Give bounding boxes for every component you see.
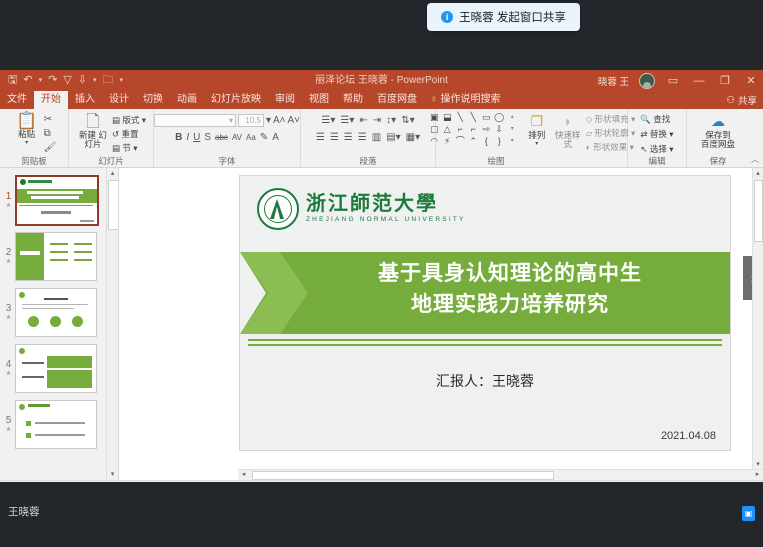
slide-title-line2: 地理实践力培养研究	[300, 289, 720, 320]
tab-slideshow[interactable]: 幻灯片放映	[204, 91, 268, 109]
paste-dropdown-icon[interactable]: ▾	[25, 139, 28, 146]
tab-transitions[interactable]: 切换	[136, 91, 170, 109]
university-seal-icon	[257, 188, 299, 230]
shape-lightning-icon[interactable]: ⚡	[444, 137, 450, 146]
thumbnail-number: 2	[3, 247, 15, 258]
select-button[interactable]: ↖ 选择 ▾	[640, 143, 673, 155]
reset-button[interactable]: ↺ 重置	[112, 128, 146, 140]
scroll-up-icon[interactable]: ▴	[107, 168, 118, 179]
numbering-icon[interactable]: ☰▾	[340, 115, 354, 126]
tab-help[interactable]: 帮助	[336, 91, 370, 109]
group-slides: 🗋 新建 幻灯片 ▤ 版式 ▾ ↺ 重置 ▤ 节 ▾ 幻灯片	[69, 109, 154, 167]
paste-label: 粘贴	[18, 130, 35, 139]
tell-me-label: 操作说明搜索	[441, 93, 501, 106]
text-shadow-icon[interactable]: S	[204, 132, 211, 143]
shape-textbox-icon[interactable]: ▣	[430, 113, 439, 122]
shapes-scroll-up-icon[interactable]: ▴	[511, 113, 514, 122]
thumbnail-number: 5	[3, 415, 15, 426]
animation-star-icon: ★	[6, 202, 11, 209]
align-left-icon[interactable]: ☰	[316, 132, 325, 143]
group-drawing: ▣ ⬓ ╲ ╲ ▭ ◯ ▴ ▢ △ ⌐ ⌐ ⇨ ⇩ ▾ ◠	[436, 109, 628, 167]
info-icon: i	[441, 11, 453, 23]
replace-button[interactable]: ⇄ 替换 ▾	[640, 128, 673, 140]
shapes-more-icon[interactable]: ▾	[511, 137, 514, 146]
group-label-paragraph: 段落	[301, 155, 435, 167]
share-person-icon: ⚇	[726, 95, 735, 106]
section-button[interactable]: ▤ 节 ▾	[112, 142, 146, 154]
shape-brace-right-icon[interactable]: }	[498, 137, 501, 146]
divider-line-2	[248, 344, 722, 346]
group-label-editing: 编辑	[628, 155, 686, 167]
character-spacing-icon[interactable]: AV	[232, 133, 242, 142]
thumbnail-slide-2[interactable]: 2 ★	[0, 228, 118, 284]
slide-vertical-scrollbar[interactable]: ▴ ▾	[752, 168, 763, 470]
scroll-up-icon[interactable]: ▴	[753, 168, 763, 179]
arrange-dropdown-icon[interactable]: ▾	[535, 140, 538, 147]
shape-line-icon[interactable]: ╲	[458, 113, 463, 122]
tab-insert[interactable]: 插入	[68, 91, 102, 109]
font-size-input[interactable]: 10.5	[238, 114, 264, 127]
text-direction-icon[interactable]: ⇅▾	[401, 115, 414, 126]
thumbnail-scrollbar[interactable]: ▴ ▾	[106, 168, 118, 480]
slide-stage: 浙江師范大學 ZHEJIANG NORMAL UNIVERSITY 基于具身认知…	[119, 168, 763, 480]
animation-star-icon: ★	[6, 314, 11, 321]
university-logo: 浙江師范大學 ZHEJIANG NORMAL UNIVERSITY	[257, 188, 466, 230]
shape-arrow-right-icon[interactable]: ⇨	[482, 125, 490, 134]
group-save: ☁ 保存到 百度网盘 保存	[687, 109, 749, 167]
slide-thumbnail-pane[interactable]: 1 ★	[0, 168, 119, 480]
meeting-top-strip: i 王晓蓉 发起窗口共享	[0, 0, 763, 70]
university-name-en: ZHEJIANG NORMAL UNIVERSITY	[306, 215, 466, 224]
arrange-button[interactable]: ❐ 排列 ▾	[524, 111, 550, 147]
italic-icon[interactable]: I	[186, 132, 189, 143]
save-to-baidu-button[interactable]: ☁ 保存到 百度网盘	[693, 113, 743, 149]
thumbnail-preview	[15, 175, 99, 226]
share-notification-text: 王晓蓉 发起窗口共享	[459, 9, 566, 25]
share-button[interactable]: ⚇ 共享	[726, 93, 757, 107]
baidu-netdisk-icon: ☁	[711, 113, 725, 130]
group-label-slides: 幻灯片	[69, 155, 153, 167]
cut-icon[interactable]: ✂	[44, 114, 57, 125]
group-clipboard: 📋 粘贴 ▾ ✂ ⧉ 🖌 剪贴板	[0, 109, 69, 167]
scroll-right-icon[interactable]: ▸	[752, 470, 763, 479]
text-highlight-icon[interactable]: ✎	[260, 132, 268, 143]
powerpoint-window: 🖫 ↶ ▾ ↷ ▽ ⇩ ▾ 🗀 ▾ 丽泽论坛 王晓蓉 - PowerPoint …	[0, 70, 763, 482]
shapes-scroll-down-icon[interactable]: ▾	[511, 125, 514, 134]
change-case-icon[interactable]: Aa	[246, 133, 256, 142]
save-to-baidu-label: 保存到 百度网盘	[701, 131, 735, 149]
tab-baidu-netdisk[interactable]: 百度网盘	[370, 91, 424, 109]
group-label-save: 保存	[687, 155, 749, 167]
ribbon-home: 📋 粘贴 ▾ ✂ ⧉ 🖌 剪贴板 🗋 新建	[0, 109, 763, 168]
close-button[interactable]: ✕	[743, 74, 759, 87]
thumbnail-number: 4	[3, 359, 15, 370]
share-notification-banner: i 王晓蓉 发起窗口共享	[427, 3, 580, 31]
animation-star-icon: ★	[6, 370, 11, 377]
slide-date: 2021.04.08	[661, 430, 716, 442]
shapes-gallery[interactable]: ▣ ⬓ ╲ ╲ ▭ ◯ ▴ ▢ △ ⌐ ⌐ ⇨ ⇩ ▾ ◠	[428, 111, 519, 147]
copy-icon[interactable]: ⧉	[44, 128, 57, 139]
font-name-input[interactable]: ▾	[154, 114, 236, 127]
shape-frame-icon[interactable]: ⬓	[443, 113, 452, 122]
tab-home[interactable]: 开始	[34, 91, 68, 109]
thumbnail-number: 1	[3, 191, 15, 202]
restore-button[interactable]: ❐	[717, 74, 733, 87]
shape-brace-left-icon[interactable]: {	[485, 137, 488, 146]
shape-arrow-down-icon[interactable]: ⇩	[495, 125, 503, 134]
group-paragraph: ☰▾ ☰▾ ⇤ ⇥ ↕▾ ⇅▾ ☰ ☰ ☰ ☰ ▥ ▤▾ ▦▾ 段落	[301, 109, 436, 167]
avatar[interactable]	[639, 73, 655, 89]
presenter-text[interactable]: 汇报人：王晓蓉	[240, 371, 730, 391]
shape-rounded-rect-icon[interactable]: ▢	[430, 125, 439, 134]
underline-icon[interactable]: U	[193, 132, 200, 143]
account-name[interactable]: 晓蓉 王	[598, 74, 629, 88]
workspace: 1 ★	[0, 168, 763, 480]
bold-icon[interactable]: B	[175, 132, 182, 143]
decrease-font-size-icon[interactable]: A˅	[288, 115, 301, 126]
collapse-ribbon-icon[interactable]: ︿	[751, 154, 759, 165]
thumbnail-slide-4[interactable]: 4 ★	[0, 340, 118, 396]
group-editing: 🔍 查找 ⇄ 替换 ▾ ↖ 选择 ▾ 编辑	[628, 109, 687, 167]
thumbnail-scroll-thumb[interactable]	[108, 180, 119, 230]
tab-design[interactable]: 设计	[102, 91, 136, 109]
thumbnail-preview	[15, 344, 97, 393]
increase-indent-icon[interactable]: ⇥	[373, 115, 381, 126]
tab-view[interactable]: 视图	[302, 91, 336, 109]
quick-styles-label: 快速样式	[555, 131, 581, 149]
thumbnail-preview	[15, 232, 97, 281]
justify-icon[interactable]: ☰	[358, 132, 367, 143]
quick-styles-button[interactable]: ◗ 快速样式	[555, 111, 581, 149]
current-slide[interactable]: 浙江師范大學 ZHEJIANG NORMAL UNIVERSITY 基于具身认知…	[240, 176, 730, 450]
decrease-indent-icon[interactable]: ⇤	[359, 115, 367, 126]
horizontal-scroll-thumb[interactable]	[252, 471, 554, 480]
presenter-name-label: 王晓蓉	[8, 504, 40, 519]
paste-icon: 📋	[16, 112, 37, 129]
title-bar: 🖫 ↶ ▾ ↷ ▽ ⇩ ▾ 🗀 ▾ 丽泽论坛 王晓蓉 - PowerPoint …	[0, 70, 763, 91]
divider-line-1	[248, 339, 722, 341]
scroll-down-icon[interactable]: ▾	[107, 469, 118, 480]
scroll-left-icon[interactable]: ◂	[238, 470, 249, 479]
align-right-icon[interactable]: ☰	[344, 132, 353, 143]
shape-oval-icon[interactable]: ◯	[494, 113, 504, 122]
font-size-dropdown-icon[interactable]: ▾	[266, 115, 271, 126]
thumbnail-preview	[15, 400, 97, 449]
shape-connector-icon[interactable]: ⌐	[471, 125, 476, 134]
screen-root: i 王晓蓉 发起窗口共享 🖫 ↶ ▾ ↷ ▽ ⇩ ▾ 🗀 ▾ 丽泽论坛 王晓蓉 …	[0, 0, 763, 547]
animation-star-icon: ★	[6, 258, 11, 265]
thumbnail-number: 3	[3, 303, 15, 314]
meeting-bottom-bar: 王晓蓉 ▣	[0, 482, 763, 547]
arrange-label: 排列	[528, 131, 545, 140]
tell-me-search[interactable]: ♀ 操作说明搜索	[424, 91, 508, 109]
tab-review[interactable]: 审阅	[268, 91, 302, 109]
shape-elbow-icon[interactable]: ⌐	[458, 125, 463, 134]
animation-star-icon: ★	[6, 426, 11, 433]
group-font: ▾ 10.5 ▾ A˄ A˅ B I U S abc AV Aa ✎ A	[154, 109, 301, 167]
new-slide-icon: 🗋	[86, 113, 100, 130]
vertical-scroll-thumb[interactable]	[754, 180, 763, 242]
group-label-font: 字体	[154, 155, 300, 167]
university-name-cn: 浙江師范大學	[306, 194, 466, 215]
tab-animations[interactable]: 动画	[170, 91, 204, 109]
ribbon-display-options-icon[interactable]: ▭	[665, 74, 681, 87]
slide-title-line1: 基于具身认知理论的高中生	[300, 258, 720, 289]
columns-icon[interactable]: ▥	[372, 132, 381, 143]
bullets-icon[interactable]: ☰▾	[321, 115, 335, 126]
shape-moon-icon[interactable]: ◠	[430, 137, 438, 146]
arrange-icon: ❐	[530, 113, 543, 130]
share-screen-icon[interactable]: ▣	[742, 506, 755, 521]
format-painter-icon[interactable]: 🖌	[44, 142, 57, 153]
align-text-icon[interactable]: ▤▾	[386, 132, 400, 143]
group-label-clipboard: 剪贴板	[0, 155, 68, 167]
slide-horizontal-scrollbar[interactable]: ◂ ▸	[238, 469, 763, 480]
find-button[interactable]: 🔍 查找	[640, 113, 673, 125]
lightbulb-icon: ♀	[430, 93, 438, 106]
thumbnail-preview	[15, 288, 97, 337]
thumbnail-slide-3[interactable]: 3 ★	[0, 284, 118, 340]
shape-angle-icon[interactable]: ⌃	[469, 137, 477, 146]
paste-button[interactable]: 📋 粘贴 ▾	[12, 112, 42, 146]
quick-styles-icon: ◗	[563, 113, 571, 130]
window-controls: 晓蓉 王 ▭ ― ❐ ✕	[598, 70, 759, 91]
font-color-icon[interactable]: A	[272, 132, 279, 143]
layout-button[interactable]: ▤ 版式 ▾	[112, 114, 146, 126]
convert-smartart-icon[interactable]: ▦▾	[406, 132, 420, 143]
line-spacing-icon[interactable]: ↕▾	[386, 115, 396, 126]
shape-rectangle-icon[interactable]: ▭	[482, 113, 491, 122]
minimize-button[interactable]: ―	[691, 75, 707, 87]
thumbnail-slide-1[interactable]: 1 ★	[0, 172, 118, 228]
align-center-icon[interactable]: ☰	[330, 132, 339, 143]
group-label-drawing: 绘图	[436, 155, 556, 167]
thumbnail-slide-5[interactable]: 5 ★	[0, 396, 118, 452]
increase-font-size-icon[interactable]: A˄	[273, 115, 286, 126]
shape-curve-icon[interactable]: ⌒	[456, 137, 465, 146]
strikethrough-icon[interactable]: abc	[215, 133, 228, 142]
tab-file[interactable]: 文件	[0, 91, 34, 109]
slide-title[interactable]: 基于具身认知理论的高中生 地理实践力培养研究	[300, 258, 720, 320]
ribbon-tabs: 文件 开始 插入 设计 切换 动画 幻灯片放映 审阅 视图 帮助 百度网盘 ♀ …	[0, 91, 763, 109]
share-label: 共享	[738, 93, 757, 107]
new-slide-label: 新建 幻灯片	[76, 131, 110, 149]
shape-arrow-icon[interactable]: ╲	[471, 113, 476, 122]
new-slide-button[interactable]: 🗋 新建 幻灯片	[76, 113, 110, 149]
shape-triangle-icon[interactable]: △	[444, 125, 451, 134]
